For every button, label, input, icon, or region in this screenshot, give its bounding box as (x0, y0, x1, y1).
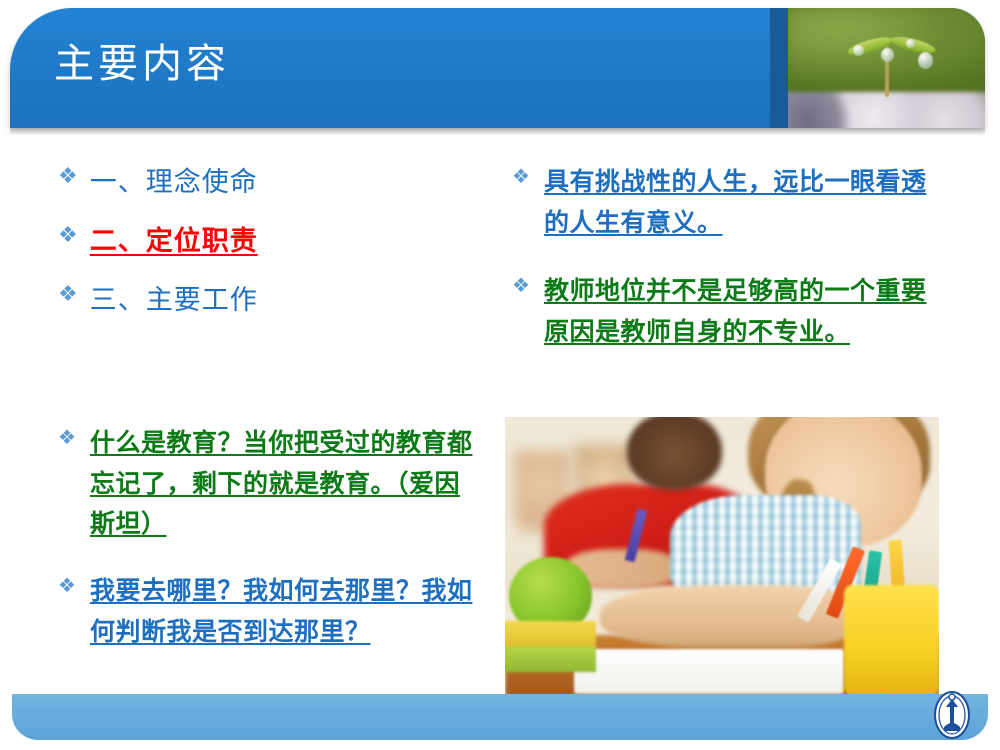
quote-text: 具有挑战性的人生，远比一眼看透的人生有意义。 (544, 163, 944, 244)
stacked-books (505, 621, 596, 671)
diamond-bullet-icon: ❖ (58, 426, 76, 451)
quote-text: 教师地位并不是足够高的一个重要原因是教师自身的不专业。 (544, 272, 944, 353)
diamond-bullet-icon: ❖ (58, 574, 76, 599)
diamond-bullet-icon: ❖ (58, 280, 78, 308)
slide-header-bar: 主要内容 (10, 8, 985, 128)
sprout-photo (788, 8, 985, 128)
diamond-bullet-icon: ❖ (58, 162, 78, 190)
pebbles (788, 92, 985, 128)
diamond-bullet-icon: ❖ (58, 221, 78, 249)
outline-item-label: 三、主要工作 (90, 280, 258, 321)
header-shadow (10, 128, 985, 136)
boy-head (627, 417, 722, 490)
outline-item-2[interactable]: ❖ 二、定位职责 (58, 221, 458, 262)
school-emblem-logo (930, 689, 974, 741)
outline-item-label: 二、定位职责 (90, 221, 258, 262)
water-droplet (881, 48, 894, 62)
outline-item-label: 一、理念使命 (90, 162, 258, 203)
slide-footer-bar (12, 694, 988, 740)
quote-text: 什么是教育？当你把受过的教育都忘记了，剩下的就是教育。（爱因斯坦） (90, 424, 478, 546)
outline-list: ❖ 一、理念使命 ❖ 二、定位职责 ❖ 三、主要工作 (58, 162, 458, 339)
page-title: 主要内容 (54, 44, 230, 84)
diamond-bullet-icon: ❖ (512, 165, 530, 190)
quote-text: 我要去哪里？我如何去那里？我如何判断我是否到达那里？ (90, 572, 478, 653)
quote-left-top: ❖ 什么是教育？当你把受过的教育都忘记了，剩下的就是教育。（爱因斯坦） (58, 424, 478, 546)
diamond-bullet-icon: ❖ (512, 274, 530, 299)
classroom-photo (505, 417, 939, 697)
quote-right-bottom: ❖ 教师地位并不是足够高的一个重要原因是教师自身的不专业。 (512, 272, 944, 353)
yellow-pencil-cup (844, 585, 939, 697)
quote-right-top: ❖ 具有挑战性的人生，远比一眼看透的人生有意义。 (512, 163, 944, 244)
quote-left-bottom: ❖ 我要去哪里？我如何去那里？我如何判断我是否到达那里？ (58, 572, 478, 653)
outline-item-3[interactable]: ❖ 三、主要工作 (58, 280, 458, 321)
outline-item-1[interactable]: ❖ 一、理念使命 (58, 162, 458, 203)
notebook-paper (574, 649, 843, 694)
